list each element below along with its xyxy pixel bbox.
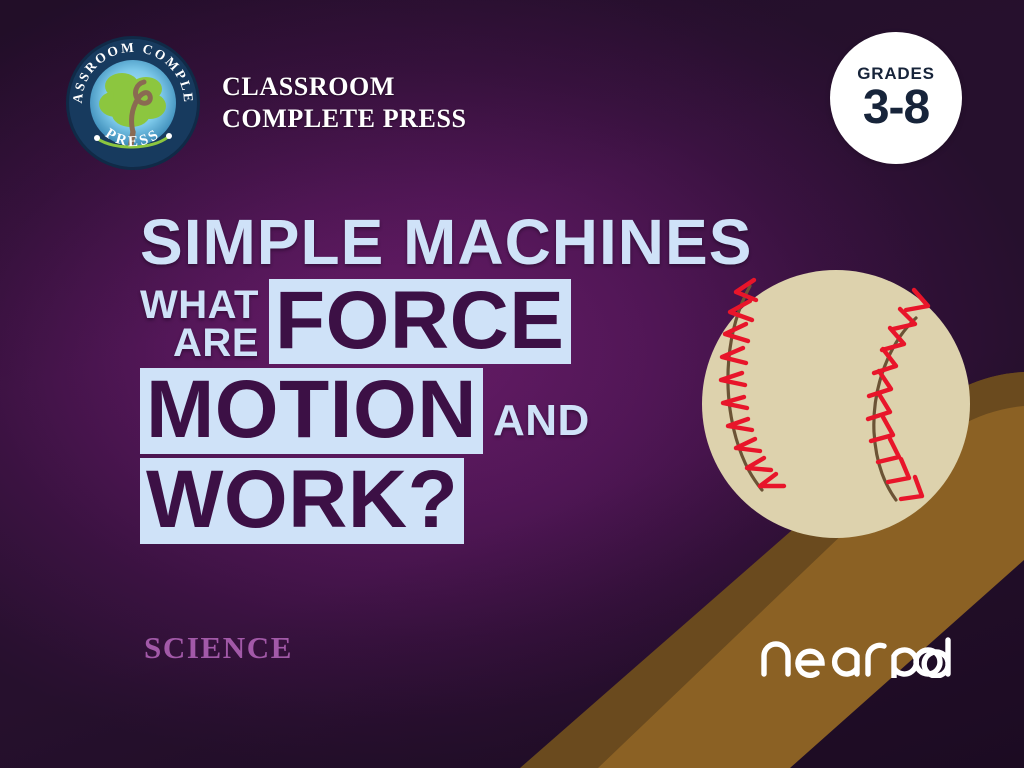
title-subject-line: SIMPLE MACHINES xyxy=(140,212,860,273)
lesson-cover-slide: CLASSROOM COMPLETE PRESS CLASSROOM COMPL… xyxy=(0,0,1024,768)
brand-logo-group: CLASSROOM COMPLETE PRESS CLASSROOM COMPL… xyxy=(64,34,467,172)
title-row-force: WHAT ARE FORCE xyxy=(140,279,860,365)
title-word-are: ARE xyxy=(173,324,259,362)
title-row-work: WORK? xyxy=(140,458,860,544)
lesson-title-block: SIMPLE MACHINES WHAT ARE FORCE MOTION AN… xyxy=(140,212,860,544)
classroom-complete-press-seal-icon: CLASSROOM COMPLETE PRESS xyxy=(64,34,202,172)
title-word-force: FORCE xyxy=(269,279,571,365)
title-row-motion: MOTION AND xyxy=(140,368,860,454)
title-word-what: WHAT xyxy=(140,286,259,324)
brand-name-line-1: CLASSROOM xyxy=(222,71,467,103)
title-word-motion: MOTION xyxy=(140,368,483,454)
title-what-are-stack: WHAT ARE xyxy=(140,286,269,365)
brand-name-line-2: COMPLETE PRESS xyxy=(222,103,467,135)
brand-name: CLASSROOM COMPLETE PRESS xyxy=(222,71,467,134)
grades-badge-label: GRADES xyxy=(857,65,935,82)
grades-badge: GRADES 3-8 xyxy=(830,32,962,164)
subject-tag: SCIENCE xyxy=(144,630,293,666)
title-word-work: WORK? xyxy=(140,458,464,544)
title-word-and: AND xyxy=(483,396,590,454)
grades-badge-range: 3-8 xyxy=(863,84,929,132)
nearpod-wordmark-icon xyxy=(758,626,954,678)
